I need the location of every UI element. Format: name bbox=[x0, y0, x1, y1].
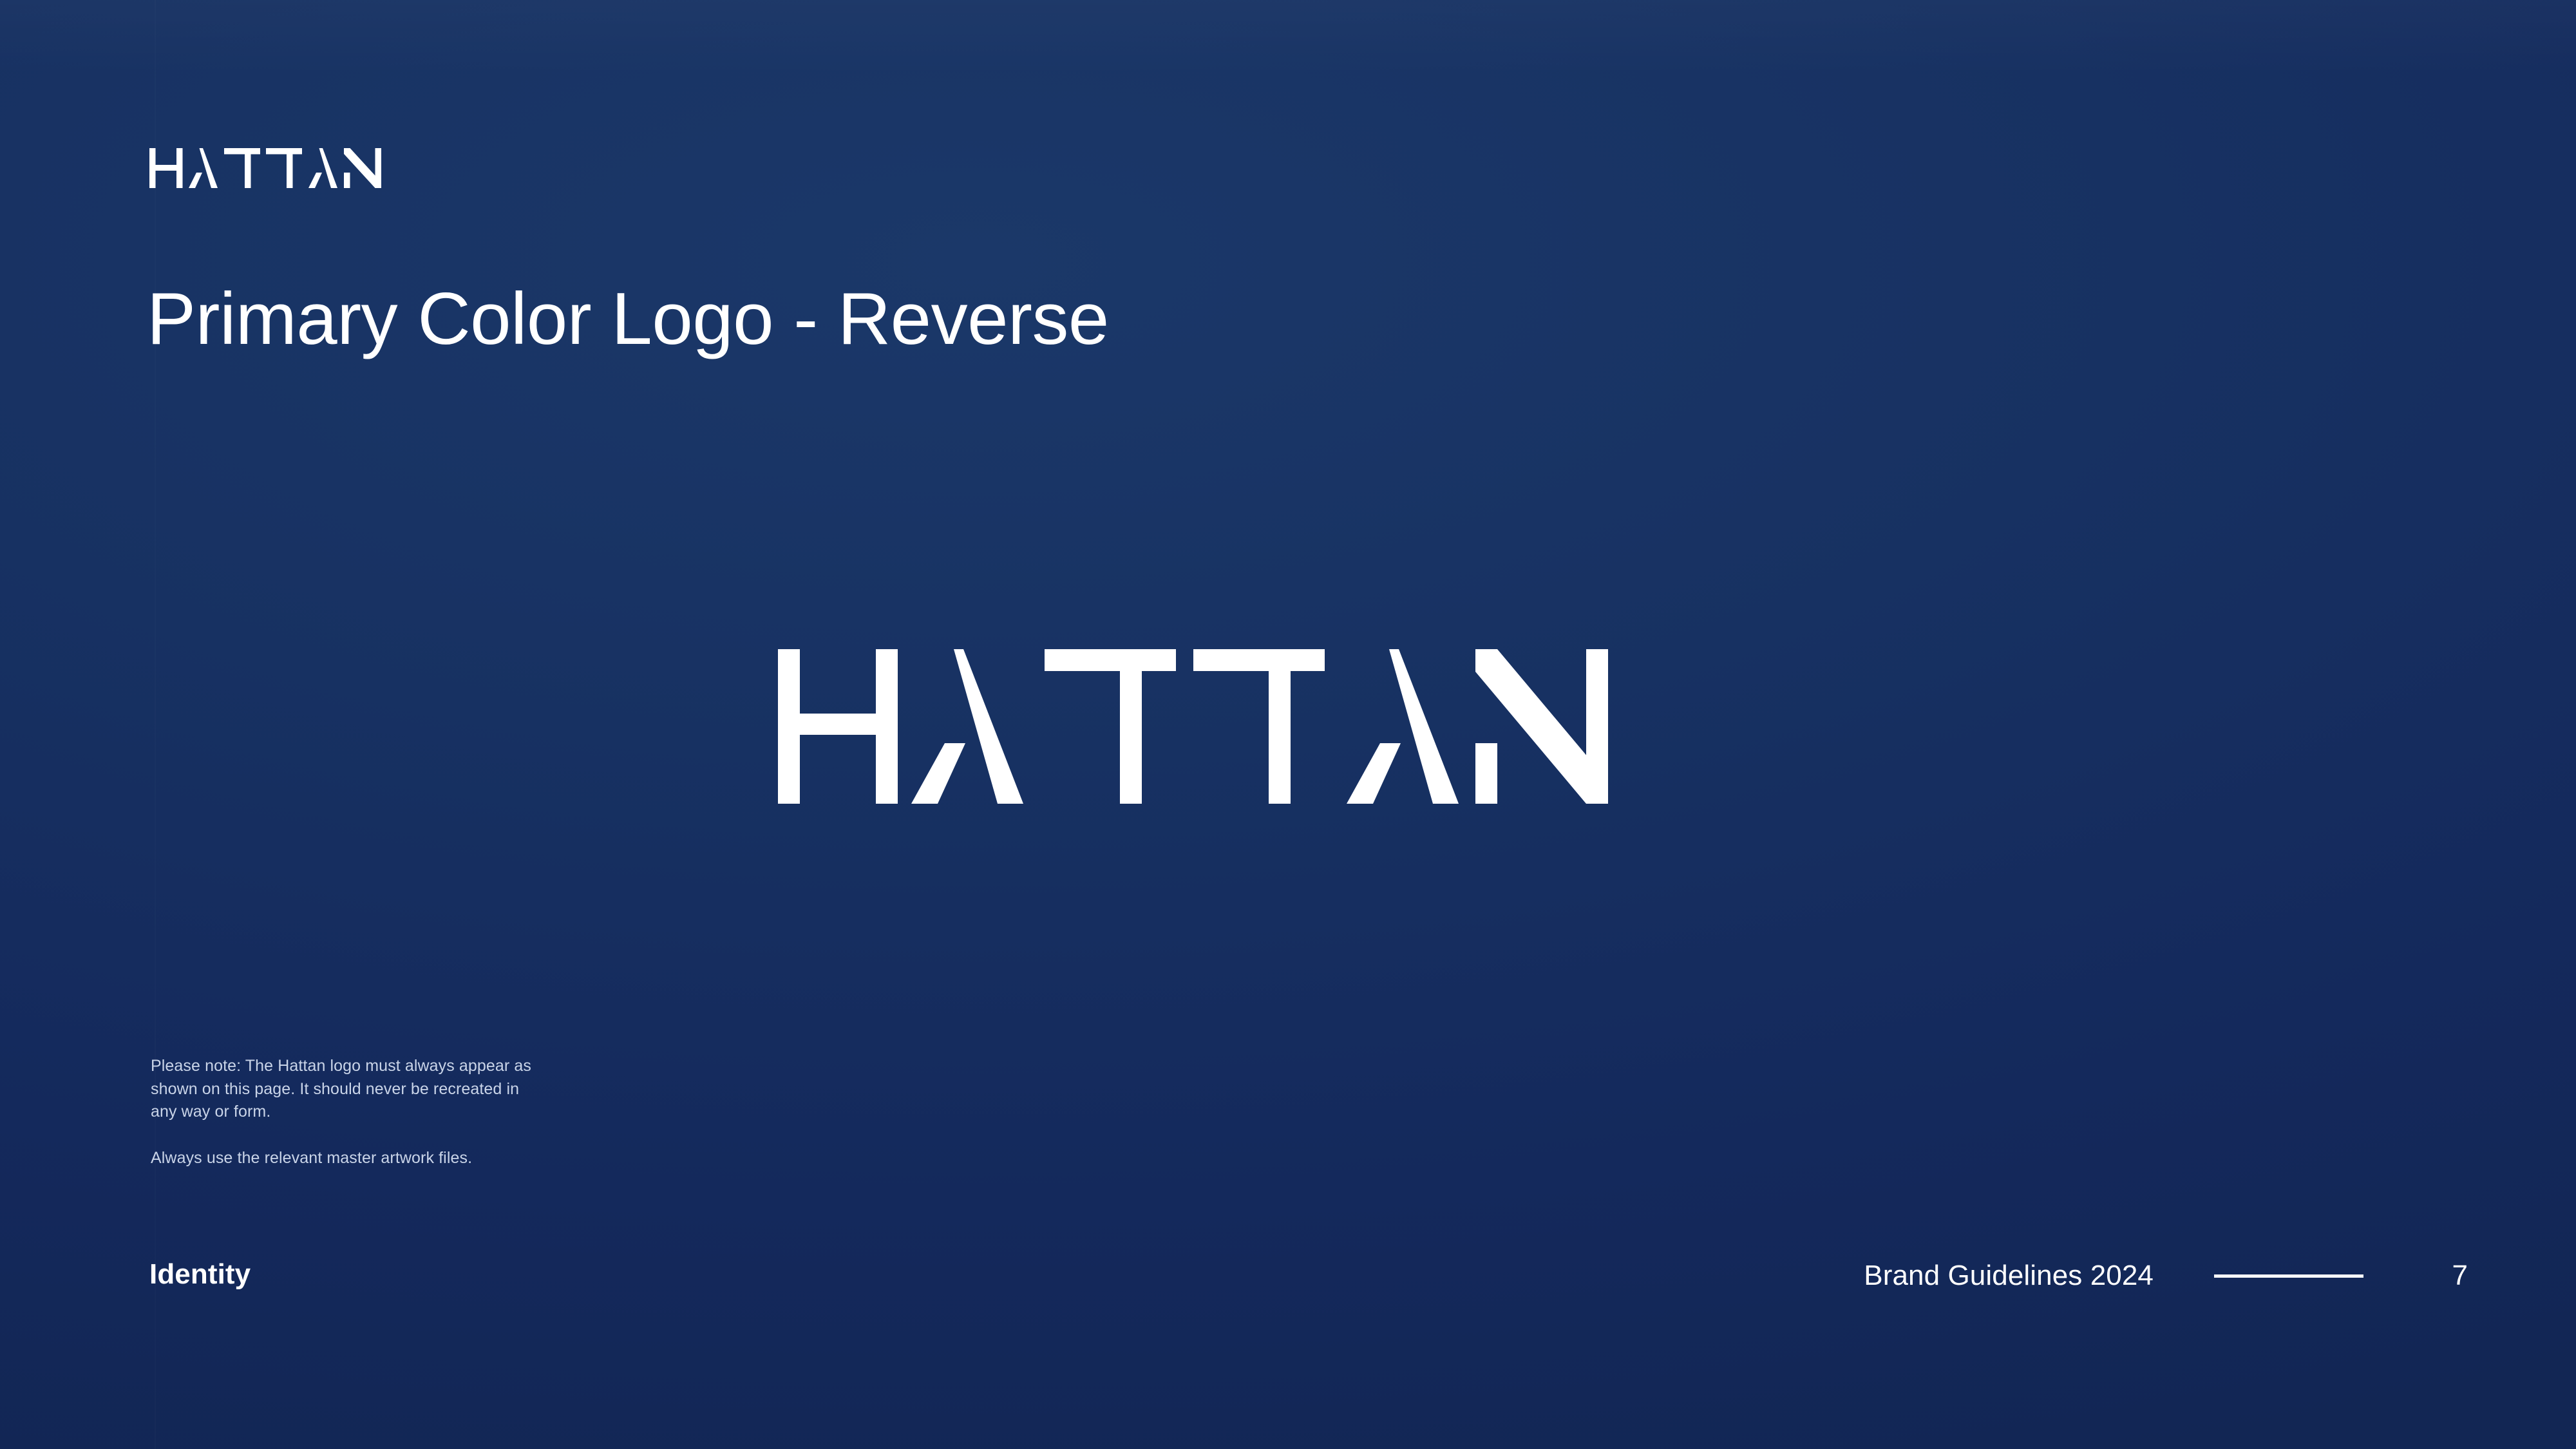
hattan-wordmark-hero bbox=[778, 649, 1799, 804]
slide-canvas: Primary Color Logo - Reverse bbox=[0, 0, 2576, 1449]
usage-note-block: Please note: The Hattan logo must always… bbox=[151, 1055, 537, 1170]
left-edge-seam bbox=[155, 0, 156, 1449]
page-title: Primary Color Logo - Reverse bbox=[147, 281, 1109, 358]
usage-note-paragraph: Please note: The Hattan logo must always… bbox=[151, 1055, 537, 1124]
page-number: 7 bbox=[2446, 1260, 2468, 1292]
footer-meta: Brand Guidelines 2024 7 bbox=[1864, 1258, 2468, 1293]
top-sheen-overlay bbox=[0, 0, 2576, 77]
hattan-wordmark-header bbox=[149, 148, 408, 188]
footer-section-label: Identity bbox=[149, 1258, 251, 1291]
footer-document-title: Brand Guidelines 2024 bbox=[1864, 1260, 2154, 1292]
usage-note-paragraph: Always use the relevant master artwork f… bbox=[151, 1147, 537, 1170]
footer-divider-rule bbox=[2214, 1274, 2363, 1278]
